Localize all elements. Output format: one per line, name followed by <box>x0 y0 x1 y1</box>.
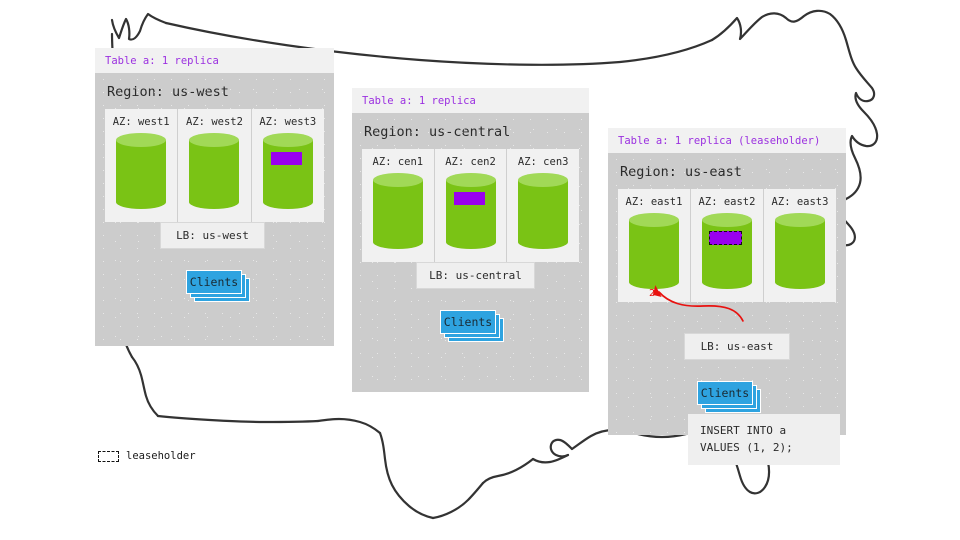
cylinder-top <box>629 213 679 227</box>
cylinder-body <box>629 220 679 282</box>
cylinder-top <box>702 213 752 227</box>
region-title-us-east: Region: us-east <box>608 153 846 189</box>
az-cell-west2[interactable]: AZ: west2 <box>177 109 250 222</box>
az-label-cen3: AZ: cen3 <box>507 156 579 168</box>
region-card-us-west: Table a: 1 replica Region: us-west AZ: w… <box>95 48 334 346</box>
clients-stack-us-east[interactable]: Clients <box>697 381 763 415</box>
az-cell-cen2[interactable]: AZ: cen2 <box>434 149 507 262</box>
cylinder-body <box>775 220 825 282</box>
node-cylinder-cen3[interactable] <box>518 173 568 249</box>
az-cell-west1[interactable]: AZ: west1 <box>105 109 177 222</box>
az-cell-cen3[interactable]: AZ: cen3 <box>506 149 579 262</box>
load-balancer-us-east[interactable]: LB: us-east <box>684 333 790 360</box>
az-label-west1: AZ: west1 <box>105 116 177 128</box>
az-cell-west3[interactable]: AZ: west3 <box>251 109 324 222</box>
node-cylinder-west3[interactable] <box>263 133 313 209</box>
table-replica-header-us-east: Table a: 1 replica (leaseholder) <box>608 128 846 153</box>
cylinder-top <box>775 213 825 227</box>
table-replica-header-us-west: Table a: 1 replica <box>95 48 334 73</box>
cylinder-body <box>518 180 568 242</box>
clients-button-us-west[interactable]: Clients <box>186 270 242 294</box>
cylinder-top <box>116 133 166 147</box>
cylinder-top <box>373 173 423 187</box>
node-cylinder-cen2[interactable] <box>446 173 496 249</box>
sql-statement-note: INSERT INTO a VALUES (1, 2); <box>688 414 840 465</box>
az-strip-us-central: AZ: cen1 AZ: cen2 <box>362 149 579 262</box>
replica-chip-west3[interactable] <box>271 152 302 165</box>
arrow-step-label-2: 2 <box>649 288 655 299</box>
cylinder-body <box>446 180 496 242</box>
load-balancer-us-central[interactable]: LB: us-central <box>416 262 535 289</box>
diagram-canvas: Table a: 1 replica Region: us-west AZ: w… <box>0 0 960 540</box>
leaseholder-chip-east2[interactable] <box>709 231 742 245</box>
legend-label: leaseholder <box>126 450 196 462</box>
cylinder-body <box>263 140 313 202</box>
az-cell-east3[interactable]: AZ: east3 <box>763 189 836 302</box>
region-title-us-central: Region: us-central <box>352 113 589 149</box>
cylinder-top <box>518 173 568 187</box>
clients-button-us-east[interactable]: Clients <box>697 381 753 405</box>
node-cylinder-cen1[interactable] <box>373 173 423 249</box>
az-label-east1: AZ: east1 <box>618 196 690 208</box>
cylinder-top <box>446 173 496 187</box>
table-replica-header-us-central: Table a: 1 replica <box>352 88 589 113</box>
az-label-cen1: AZ: cen1 <box>362 156 434 168</box>
az-strip-us-west: AZ: west1 AZ: west2 AZ <box>105 109 324 222</box>
node-cylinder-west2[interactable] <box>189 133 239 209</box>
request-arrow-2 <box>625 275 755 330</box>
clients-button-us-central[interactable]: Clients <box>440 310 496 334</box>
az-label-east3: AZ: east3 <box>764 196 836 208</box>
cylinder-body <box>189 140 239 202</box>
az-label-east2: AZ: east2 <box>691 196 763 208</box>
region-card-us-central: Table a: 1 replica Region: us-central AZ… <box>352 88 589 392</box>
cylinder-body <box>116 140 166 202</box>
legend-leaseholder: leaseholder <box>98 450 196 462</box>
region-title-us-west: Region: us-west <box>95 73 334 109</box>
cylinder-top <box>263 133 313 147</box>
az-cell-cen1[interactable]: AZ: cen1 <box>362 149 434 262</box>
load-balancer-us-west[interactable]: LB: us-west <box>160 222 265 249</box>
dashed-rect-swatch-icon <box>98 451 119 462</box>
clients-stack-us-west[interactable]: Clients <box>186 270 252 304</box>
az-label-west2: AZ: west2 <box>178 116 250 128</box>
az-label-cen2: AZ: cen2 <box>435 156 507 168</box>
node-cylinder-east3[interactable] <box>775 213 825 289</box>
cylinder-body <box>702 220 752 282</box>
cylinder-body <box>373 180 423 242</box>
az-label-west3: AZ: west3 <box>252 116 324 128</box>
replica-chip-cen2[interactable] <box>454 192 485 205</box>
node-cylinder-west1[interactable] <box>116 133 166 209</box>
clients-stack-us-central[interactable]: Clients <box>440 310 506 344</box>
